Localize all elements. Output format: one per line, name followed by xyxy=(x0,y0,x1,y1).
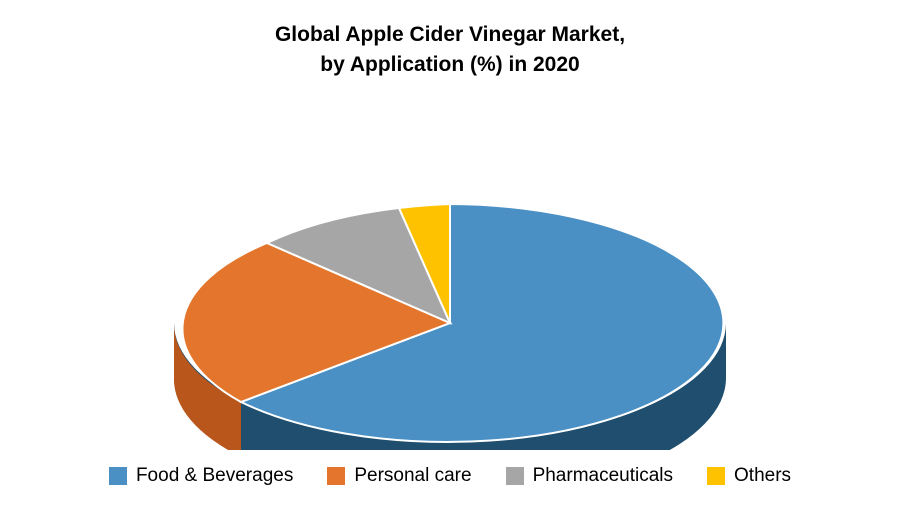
legend-swatch-icon xyxy=(327,467,345,485)
legend-item-pharmaceuticals: Pharmaceuticals xyxy=(506,465,673,487)
chart-legend: Food & Beverages Personal care Pharmaceu… xyxy=(0,465,900,487)
chart-title-line-2: by Application (%) in 2020 xyxy=(0,50,900,80)
legend-label: Pharmaceuticals xyxy=(533,465,673,487)
legend-label: Personal care xyxy=(354,465,471,487)
legend-item-others: Others xyxy=(707,465,791,487)
legend-item-food-beverages: Food & Beverages xyxy=(109,465,293,487)
legend-label: Others xyxy=(734,465,791,487)
pie-svg xyxy=(0,95,900,450)
pie-chart-figure: Global Apple Cider Vinegar Market, by Ap… xyxy=(0,0,900,525)
legend-item-personal-care: Personal care xyxy=(327,465,471,487)
chart-title-line-1: Global Apple Cider Vinegar Market, xyxy=(0,20,900,50)
legend-label: Food & Beverages xyxy=(136,465,293,487)
pie-plot-area xyxy=(0,95,900,450)
legend-swatch-icon xyxy=(506,467,524,485)
pie-top-face xyxy=(182,204,723,442)
legend-swatch-icon xyxy=(707,467,725,485)
chart-title: Global Apple Cider Vinegar Market, by Ap… xyxy=(0,20,900,80)
legend-swatch-icon xyxy=(109,467,127,485)
